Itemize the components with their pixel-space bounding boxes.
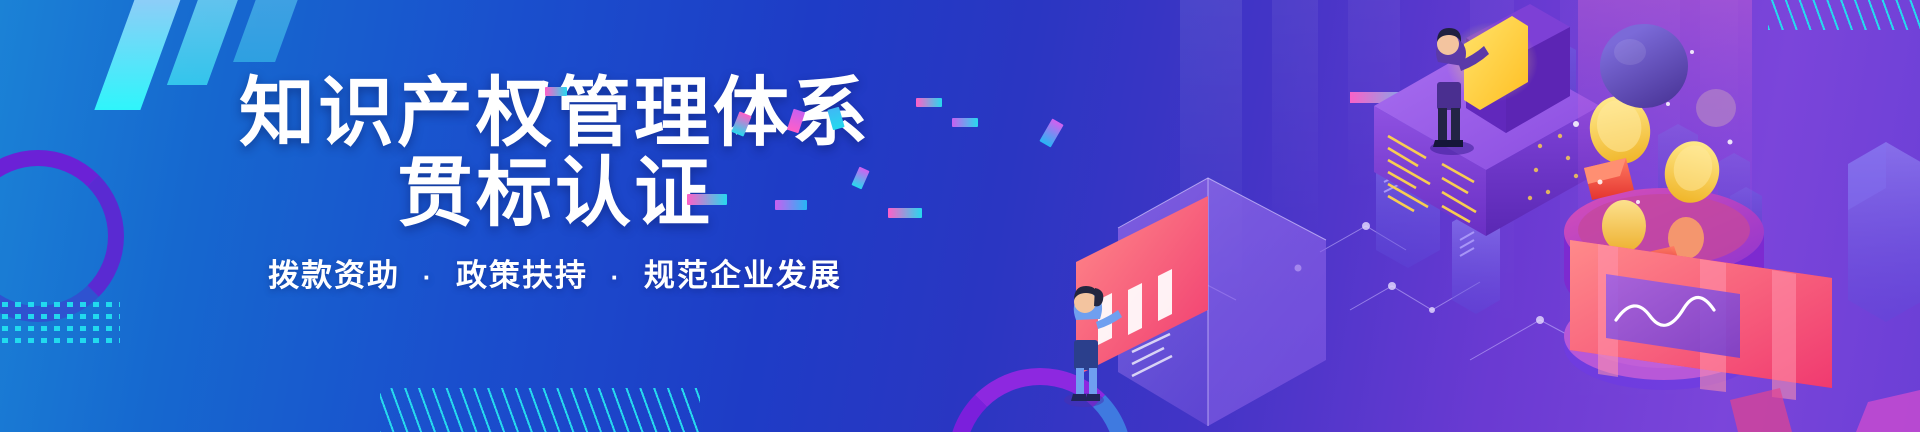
subtitle-item: 拨款资助 — [268, 258, 400, 293]
subtitle: 拨款资助 · 政策扶持 · 规范企业发展 — [0, 250, 1110, 295]
page-title-line-2: 贯标认证 — [0, 152, 1110, 236]
subtitle-separator: · — [411, 262, 446, 292]
subtitle-separator: · — [599, 262, 634, 292]
subtitle-item: 政策扶持 — [456, 258, 588, 293]
page-title-line-1: 知识产权管理体系 — [0, 72, 1110, 156]
isometric-illustration — [1040, 0, 1920, 432]
chart-station — [1064, 178, 1326, 426]
magenta-chip — [1856, 390, 1920, 432]
illustration-svg — [1040, 0, 1920, 432]
subtitle-item: 规范企业发展 — [644, 258, 842, 293]
promo-banner: 知识产权管理体系 贯标认证 拨款资助 · 政策扶持 · 规范企业发展 — [0, 0, 1920, 432]
headline-block: 知识产权管理体系 贯标认证 拨款资助 · 政策扶持 · 规范企业发展 — [0, 0, 1110, 432]
